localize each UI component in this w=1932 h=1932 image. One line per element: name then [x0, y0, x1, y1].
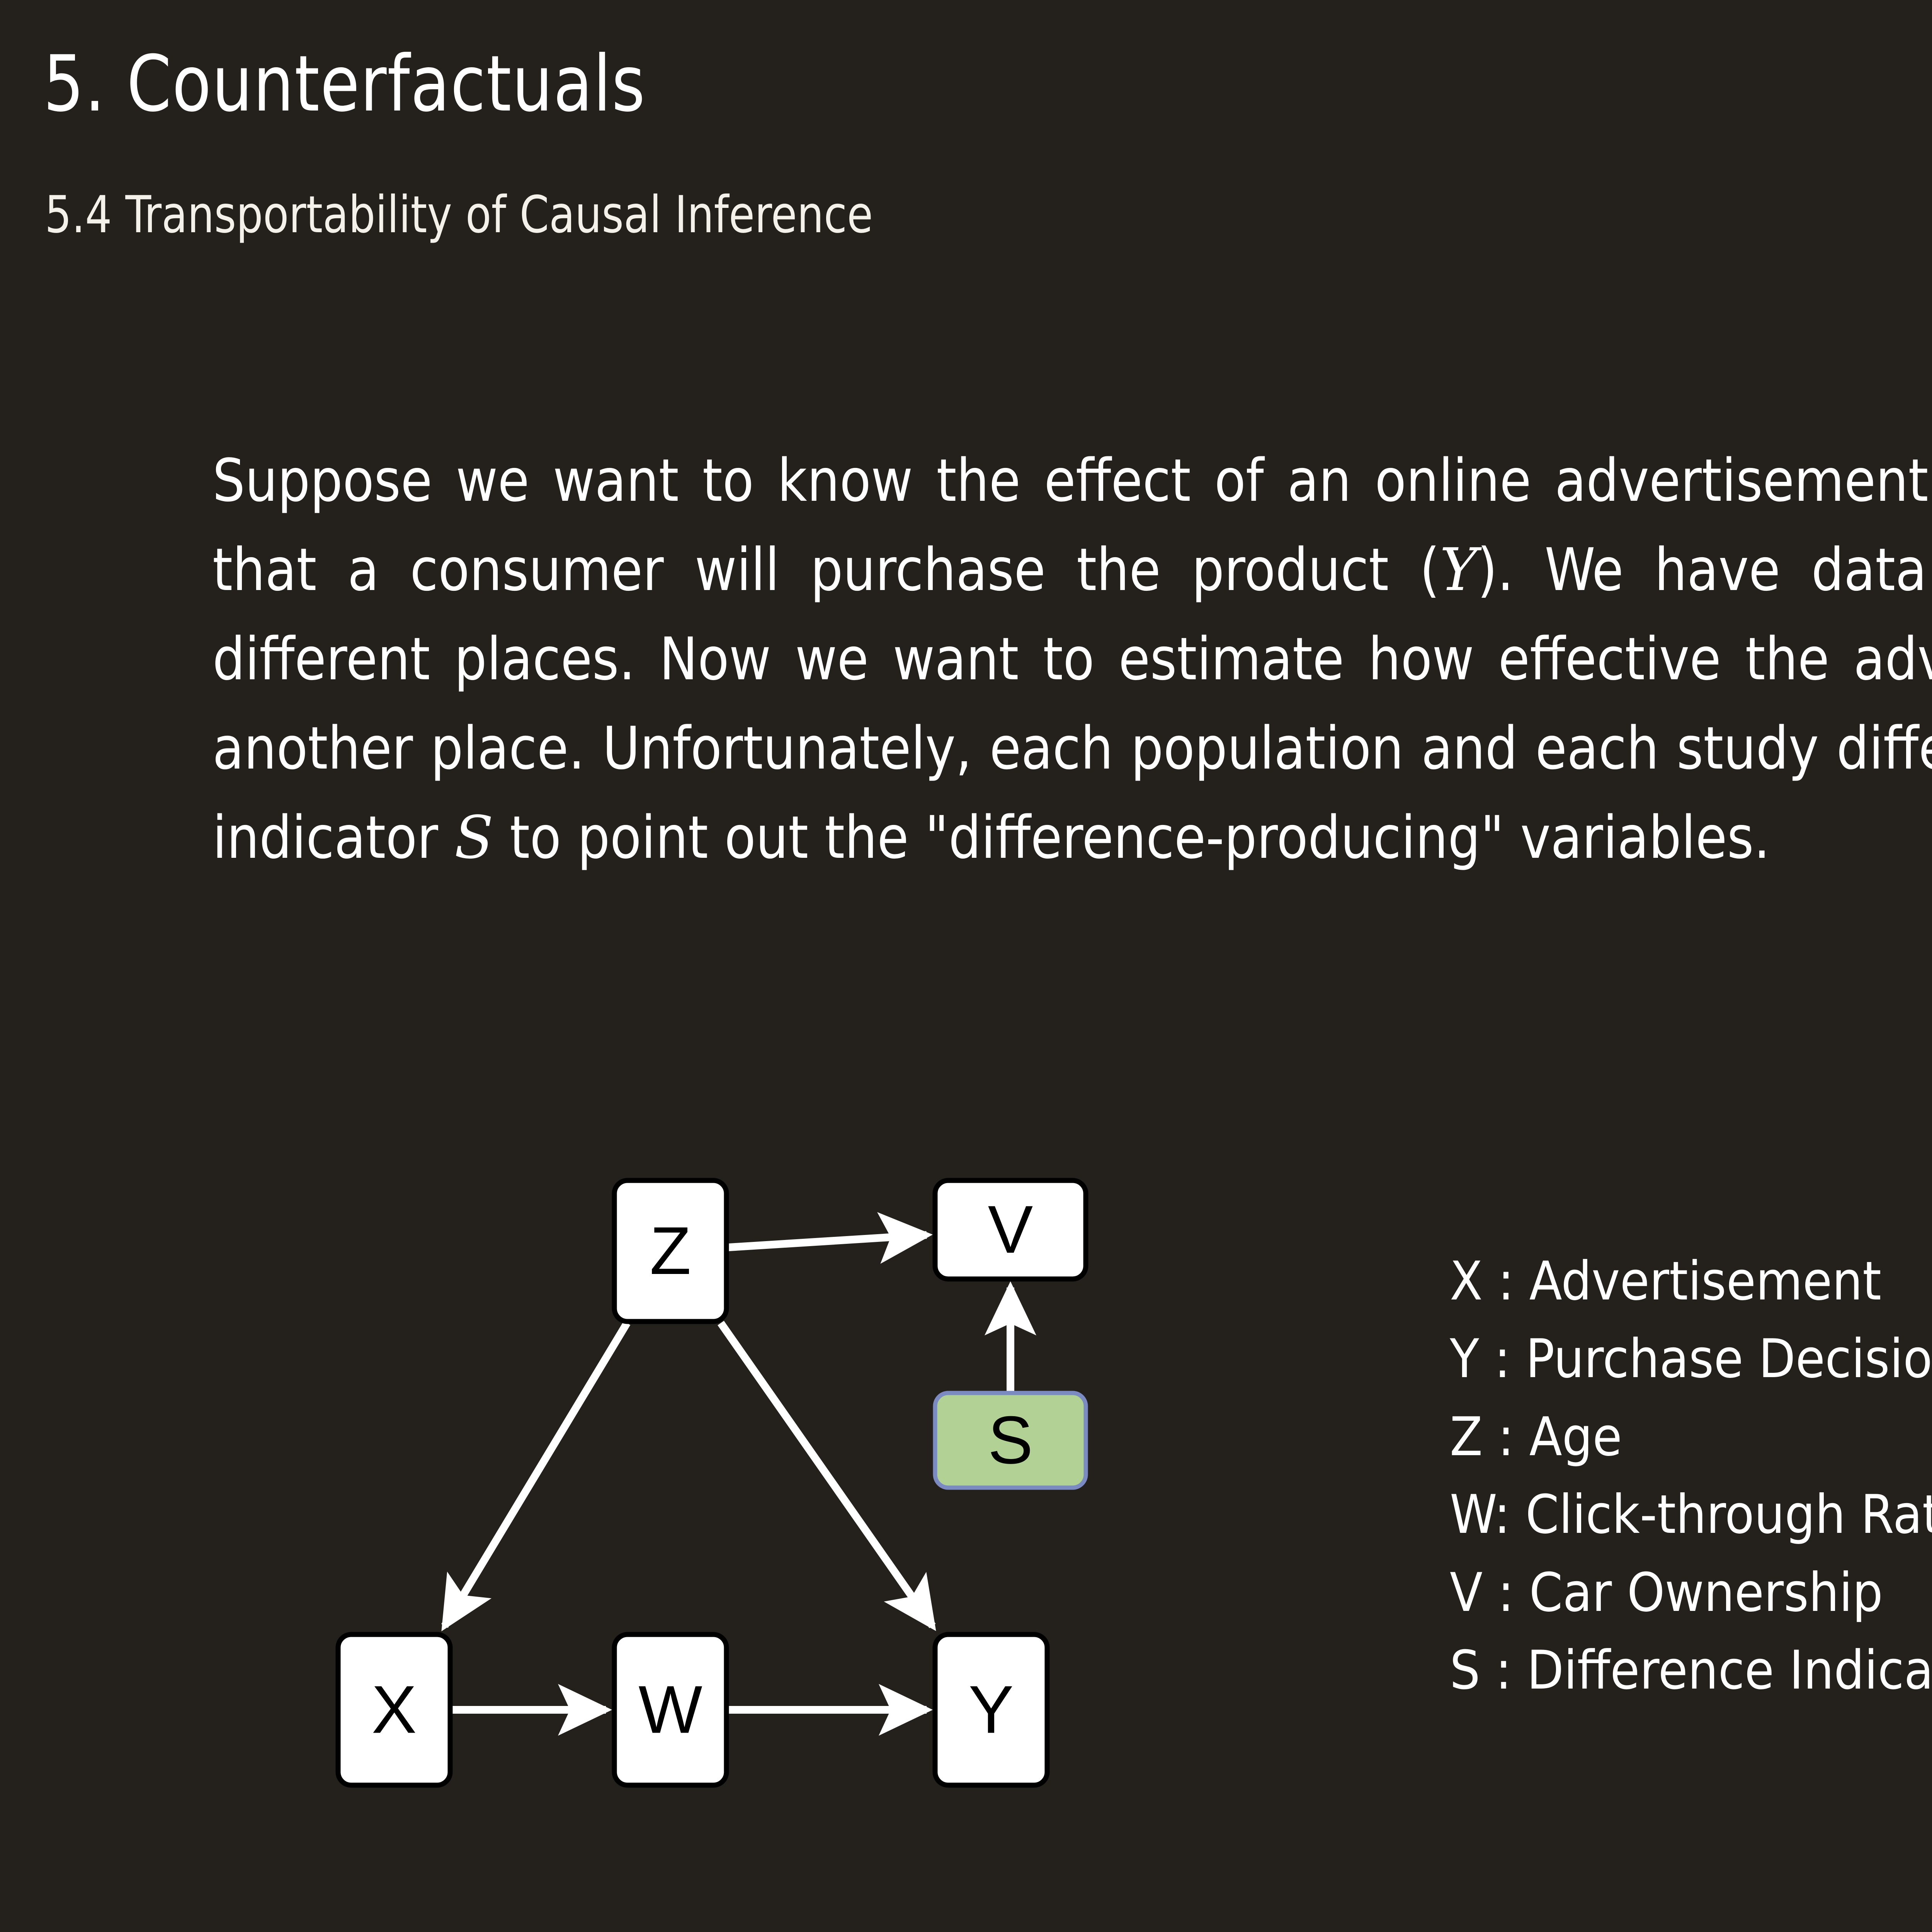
diagram-node-s[interactable]: S [935, 1393, 1086, 1488]
causal-diagram-svg: ZVSXWY [317, 1167, 1136, 1816]
legend-row: W: Click-through Rate [1450, 1476, 1932, 1553]
page-subtitle: 5.4 Transportability of Causal Inference [45, 189, 873, 240]
node-label: Y [969, 1672, 1014, 1748]
diagram-node-w[interactable]: W [614, 1634, 726, 1785]
beamer-slide: 5. Counterfactuals 5.4 Transportability … [0, 0, 1932, 1932]
node-label: V [988, 1192, 1033, 1267]
diagram-nodes: ZVSXWY [338, 1180, 1086, 1785]
body-text-run: Suppose we want to know the effect of an… [213, 446, 1932, 515]
slide-header: 5. Counterfactuals 5.4 Transportability … [0, 0, 1932, 294]
math-variable: Y [1440, 536, 1477, 604]
variable-legend: X : AdvertisementY : Purchase DecisionZ … [1450, 1242, 1932, 1709]
legend-row: X : Advertisement [1450, 1242, 1932, 1320]
causal-diagram: ZVSXWY [317, 1167, 1136, 1816]
node-label: Z [650, 1213, 691, 1289]
diagram-node-v[interactable]: V [935, 1180, 1086, 1279]
diagram-node-z[interactable]: Z [614, 1180, 726, 1321]
diagram-node-y[interactable]: Y [935, 1634, 1047, 1785]
diagram-edge-Z-to-Y [721, 1323, 932, 1626]
legend-row: S : Difference Indicator [1450, 1631, 1932, 1709]
math-variable: S [454, 803, 493, 872]
node-label: W [638, 1672, 702, 1748]
diagram-node-x[interactable]: X [338, 1634, 450, 1785]
page-title: 5. Counterfactuals [43, 46, 646, 123]
legend-row: Y : Purchase Decision [1450, 1320, 1932, 1398]
body-paragraph: Suppose we want to know the effect of an… [213, 436, 1932, 882]
node-label: S [988, 1403, 1033, 1478]
diagram-edge-Z-to-X [445, 1323, 627, 1626]
diagram-edge-Z-to-V [728, 1235, 927, 1247]
body-text-run: to point out the "difference-producing" … [493, 803, 1770, 872]
legend-row: Z : Age [1450, 1398, 1932, 1476]
node-label: X [372, 1672, 417, 1748]
legend-row: V : Car Ownership [1450, 1554, 1932, 1631]
